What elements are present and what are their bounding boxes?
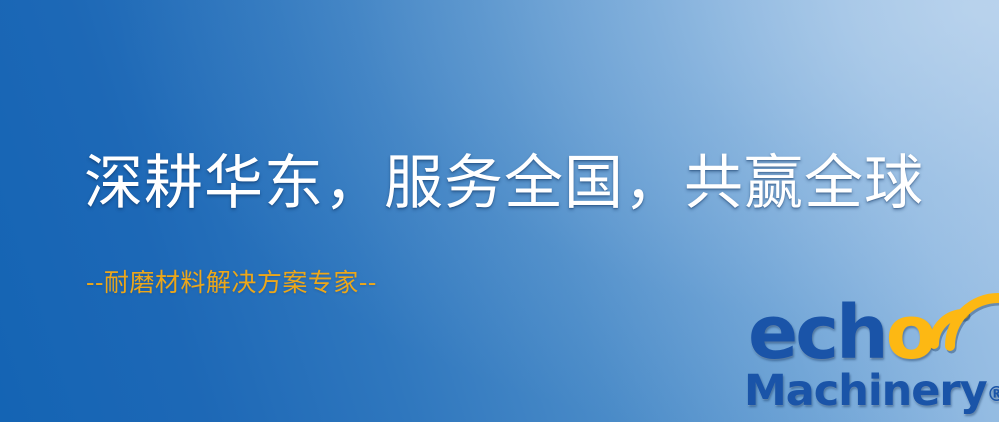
logo-brand-text: echo [748, 296, 934, 370]
promotional-banner: 深耕华东，服务全国，共赢全球 --耐磨材料解决方案专家-- echo Machi… [0, 0, 999, 422]
logo-tagline: Machinery [744, 366, 987, 416]
banner-headline: 深耕华东，服务全国，共赢全球 [84, 152, 924, 215]
logo-wordmark: echo [748, 294, 994, 374]
echo-wave-icon [924, 288, 990, 350]
echo-machinery-logo: echo Machinery® [742, 294, 994, 422]
registered-trademark-icon: ® [987, 382, 999, 406]
logo-brand-prefix: ech [748, 290, 886, 376]
banner-subtitle: --耐磨材料解决方案专家-- [86, 268, 377, 298]
logo-tagline-text: Machinery® [744, 370, 999, 413]
